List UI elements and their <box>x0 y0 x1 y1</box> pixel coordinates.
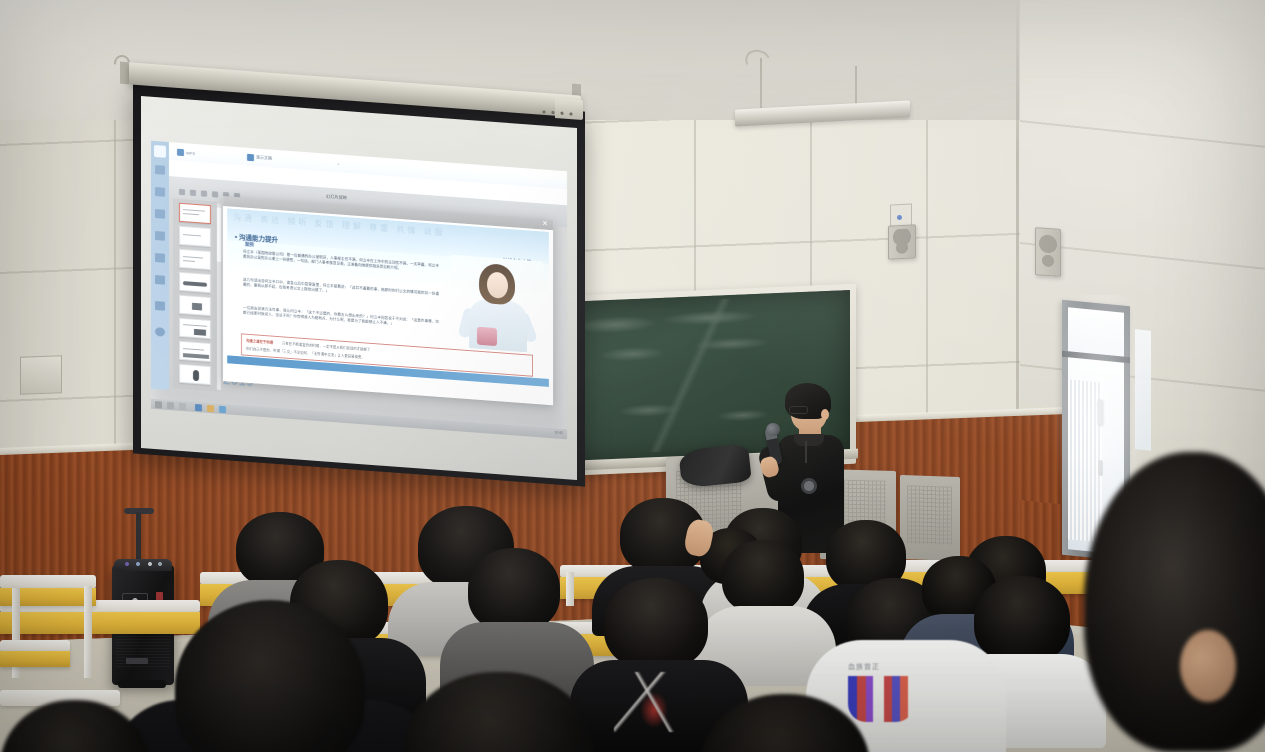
slide-thumbnail[interactable] <box>179 318 211 339</box>
shirt-u-graphic <box>848 676 914 722</box>
bold-icon[interactable] <box>179 189 185 195</box>
windows-taskbar[interactable]: 10:42 <box>151 399 567 440</box>
rail-cloud-icon[interactable] <box>155 231 165 241</box>
classroom-photo: WPS 演示文稿 + 幻灯片放映 <box>0 0 1265 752</box>
tab-add-label: + <box>337 161 339 166</box>
portrait-face <box>487 271 508 299</box>
light-rod-left <box>760 58 762 108</box>
tab-wps[interactable]: WPS <box>177 147 195 158</box>
pa-wheel-base <box>118 680 166 688</box>
tab-presentation[interactable]: 演示文稿 <box>247 152 272 164</box>
gear-icon[interactable] <box>155 327 165 337</box>
door-lower-handle[interactable] <box>1098 460 1103 476</box>
slide-paragraph: 这几句话出自何立丰口中，紧急以后中层里面里，何立丰接着说：「这并不重要的事，她那… <box>243 277 439 302</box>
tab-add[interactable]: + <box>337 158 339 168</box>
rail-tools-icon[interactable] <box>155 301 165 311</box>
italic-icon[interactable] <box>190 190 196 196</box>
projected-desktop: WPS 演示文稿 + 幻灯片放映 <box>151 141 567 440</box>
shirt-text-graphic: 血族曾正 <box>848 662 880 672</box>
cabinet-vent-grill-2 <box>907 485 952 545</box>
wall-access-panel <box>20 355 62 394</box>
wps-logo-icon <box>154 145 166 158</box>
search-icon[interactable] <box>167 402 174 410</box>
slide-thumbnail[interactable] <box>179 249 211 270</box>
slide-preview-window[interactable]: ✕ 沟通 表达 倾听 反馈 理解 尊重 共情 说服 沟通能力提升 案例 何立丰（… <box>223 196 553 405</box>
explorer-icon[interactable] <box>195 404 202 412</box>
pa-telescoping-handle <box>136 512 141 562</box>
slide-bullet-heading: 沟通能力提升 <box>235 231 278 244</box>
slide-subhead: 案例 <box>245 242 254 249</box>
presenter-chest-emblem <box>801 478 817 494</box>
wall-speaker-right <box>1035 227 1061 277</box>
presenter-glasses-icon <box>789 406 808 414</box>
portrait-handbag <box>477 327 497 346</box>
taskview-icon[interactable] <box>179 403 186 411</box>
callout-lead: 沟通之道在于同理 <box>246 338 273 345</box>
bullet-dot-icon <box>235 236 237 238</box>
projection-screen-surface: WPS 演示文稿 + 幻灯片放映 <box>141 96 577 480</box>
tab-presentation-icon <box>247 153 254 161</box>
tab-presentation-label: 演示文稿 <box>256 154 272 161</box>
ppt-slide: 沟通 表达 倾听 反馈 理解 尊重 共情 说服 沟通能力提升 案例 何立丰（某国… <box>227 208 549 387</box>
rail-share-icon[interactable] <box>155 253 165 263</box>
junction-box-led-icon <box>897 215 902 220</box>
screen-bracket-left <box>120 62 129 85</box>
slide-paragraph: 一位朋友说我方法件事，我认何立丰：「这个不过是的，你看去么想出来的？」何立丰回答… <box>243 305 439 330</box>
slide-thumbnail-pane[interactable] <box>173 198 217 391</box>
underline-icon[interactable] <box>201 190 207 196</box>
side-window <box>1135 329 1151 451</box>
wall-speaker-left <box>888 224 916 259</box>
slide-thumbnail[interactable] <box>179 203 211 224</box>
start-icon[interactable] <box>155 401 162 409</box>
rail-open-icon[interactable] <box>155 187 165 197</box>
rail-template-icon[interactable] <box>155 275 165 285</box>
slide-thumbnail[interactable] <box>179 295 211 316</box>
slide-thumbnail[interactable] <box>179 341 211 362</box>
slide-thumbnail[interactable] <box>179 272 211 293</box>
vertical-blinds-icon <box>1068 379 1102 542</box>
taskbar-clock: 10:42 <box>555 430 564 435</box>
slide-thumbnail[interactable] <box>179 226 211 247</box>
rail-new-icon[interactable] <box>155 165 165 175</box>
foreground-ear <box>1180 630 1236 702</box>
close-icon[interactable]: ✕ <box>541 220 549 229</box>
rail-recent-icon[interactable] <box>155 209 165 219</box>
presenter-ear <box>821 409 829 420</box>
pa-knobs-icon <box>120 560 166 568</box>
slide-thumbnail[interactable] <box>179 364 211 385</box>
tab-wps-label: WPS <box>186 150 195 156</box>
presenter-collar <box>794 434 824 446</box>
door-handle[interactable] <box>1098 400 1103 426</box>
tshirt-graphic <box>614 672 684 732</box>
browser-icon[interactable] <box>219 406 226 414</box>
door-transom-glass <box>1068 307 1124 356</box>
tab-wps-icon <box>177 148 184 156</box>
presenter-portrait-photo <box>451 255 543 354</box>
align-icon[interactable] <box>212 191 218 197</box>
presenter-placket <box>805 441 807 463</box>
pa-badge <box>126 658 148 664</box>
wps-taskbar-icon[interactable] <box>207 405 214 413</box>
thumbnail-scrollbar[interactable] <box>217 204 221 390</box>
wps-side-rail[interactable] <box>151 141 169 390</box>
